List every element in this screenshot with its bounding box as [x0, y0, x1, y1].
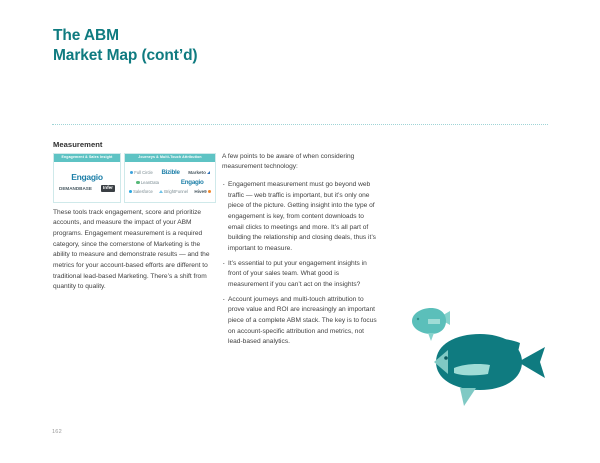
logo-row: Full Circle Bizible Marketo: [127, 169, 213, 176]
funnel-icon: [159, 190, 163, 193]
logo-leandata: LeanData: [136, 181, 159, 185]
circle-icon: [208, 190, 211, 193]
circle-icon: [136, 181, 139, 184]
section-divider: [52, 124, 548, 125]
small-fish-icon: [412, 308, 450, 341]
bar-chart-icon: [207, 171, 210, 174]
right-column: A few points to be aware of when conside…: [222, 145, 379, 352]
logo-engagio: Engagio: [181, 179, 204, 186]
vendor-logo-matrix: Engagement & Sales Insight Engagio DEMAN…: [53, 153, 216, 203]
left-column: Measurement Engagement & Sales Insight E…: [53, 140, 216, 300]
logo-salesforce: Salesforce: [129, 190, 153, 194]
cloud-icon: [129, 190, 132, 193]
matrix-column-engagement-sales-insight: Engagement & Sales Insight Engagio DEMAN…: [53, 153, 121, 203]
logo-demandbase: DEMANDBASE: [59, 186, 92, 191]
logo-row: Engagio: [56, 172, 118, 182]
fish-illustration: [398, 300, 578, 415]
logo-marketo: Marketo: [188, 170, 210, 175]
matrix-column-header: Journeys & Multi-Touch Attribution: [125, 154, 215, 162]
measurement-paragraph: These tools track engagement, score and …: [53, 208, 216, 293]
matrix-column-header: Engagement & Sales Insight: [54, 154, 120, 162]
matrix-column-body: Full Circle Bizible Marketo LeanData: [125, 162, 215, 202]
list-item: Account journeys and multi-touch attribu…: [222, 295, 379, 348]
matrix-column-body: Engagio DEMANDBASE Infer: [54, 162, 120, 202]
page-number: 162: [52, 429, 62, 435]
logo-bizible: Bizible: [161, 169, 179, 176]
logo-brightfunnel: BrightFunnel: [159, 190, 188, 194]
logo-engagio: Engagio: [71, 172, 102, 182]
circle-icon: [130, 171, 133, 174]
considerations-list: Engagement measurement must go beyond we…: [222, 180, 379, 348]
page-title-line-2: Market Map (cont’d): [53, 46, 198, 66]
logo-row: LeanData Engagio: [127, 179, 213, 186]
list-item: Engagement measurement must go beyond we…: [222, 180, 379, 255]
logo-infer: Infer: [101, 185, 115, 192]
page-title-line-1: The ABM: [53, 26, 198, 46]
section-heading-measurement: Measurement: [53, 140, 216, 149]
considerations-intro: A few points to be aware of when conside…: [222, 152, 379, 173]
logo-row: Salesforce BrightFunnel Hive9: [127, 189, 213, 194]
large-fish-icon: [434, 334, 545, 406]
logo-full-circle: Full Circle: [130, 171, 153, 175]
logo-row: DEMANDBASE Infer: [56, 185, 118, 192]
logo-hive9: Hive9: [194, 189, 211, 194]
matrix-column-journeys-attribution: Journeys & Multi-Touch Attribution Full …: [124, 153, 216, 203]
page-title: The ABM Market Map (cont’d): [53, 26, 198, 66]
list-item: It’s essential to put your engagement in…: [222, 259, 379, 291]
